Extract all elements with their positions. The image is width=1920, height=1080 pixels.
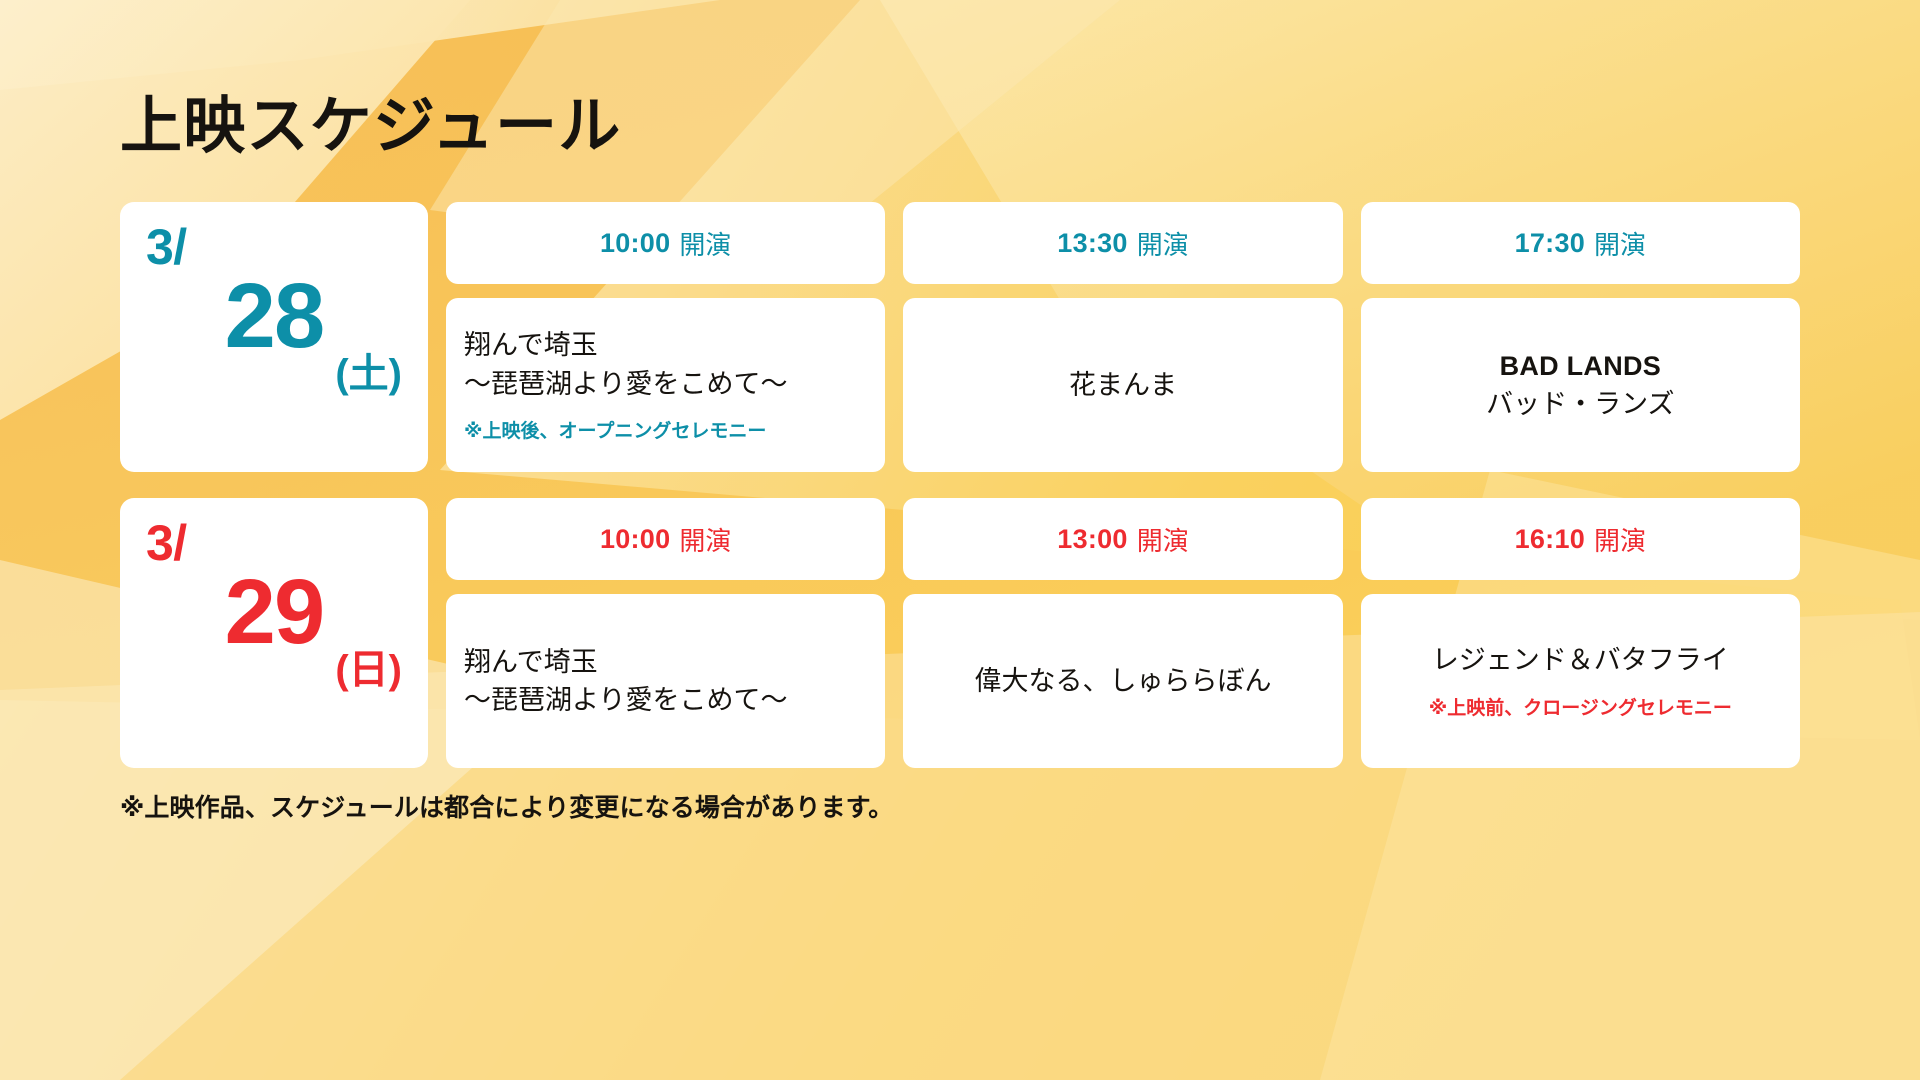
film-card[interactable]: 翔んで埼玉 ～琵琶湖より愛をこめて～※上映後、オープニングセレモニー: [446, 298, 885, 472]
showtime-label: 開演: [679, 225, 731, 262]
film-title: 翔んで埼玉 ～琵琶湖より愛をこめて～: [464, 643, 787, 720]
film-title: BAD LANDSバッド・ランズ: [1486, 347, 1674, 424]
schedule-poster: 上映スケジュール 3/28(土)10:00開演翔んで埼玉 ～琵琶湖より愛をこめて…: [0, 0, 1920, 1080]
film-note: ※上映後、オープニングセレモニー: [464, 421, 766, 444]
showtime-slot: 16:10開演レジェンド＆バタフライ※上映前、クロージングセレモニー: [1361, 498, 1800, 768]
showtime-value: 13:30: [1057, 228, 1127, 259]
date-dayofweek: (土): [146, 354, 402, 394]
showtime-slot: 10:00開演翔んで埼玉 ～琵琶湖より愛をこめて～※上映後、オープニングセレモニ…: [446, 202, 885, 472]
film-note: ※上映前、クロージングセレモニー: [1429, 698, 1732, 721]
showtime-card[interactable]: 10:00開演: [446, 202, 885, 284]
film-title: 花まんま: [1069, 366, 1177, 404]
date-dayofweek: (日): [146, 650, 402, 690]
showtime-label: 開演: [1137, 225, 1189, 262]
film-title: レジェンド＆バタフライ: [1432, 641, 1729, 679]
film-card[interactable]: BAD LANDSバッド・ランズ: [1361, 298, 1800, 472]
showtime-label: 開演: [1594, 521, 1646, 558]
showtime-value: 10:00: [600, 524, 670, 555]
showtime-label: 開演: [1137, 521, 1189, 558]
film-card[interactable]: レジェンド＆バタフライ※上映前、クロージングセレモニー: [1361, 594, 1800, 768]
film-title-jp: バッド・ランズ: [1486, 389, 1674, 419]
poster-content: 上映スケジュール 3/28(土)10:00開演翔んで埼玉 ～琵琶湖より愛をこめて…: [0, 0, 1920, 824]
showtime-slots: 10:00開演翔んで埼玉 ～琵琶湖より愛をこめて～13:00開演偉大なる、しゅら…: [446, 498, 1800, 768]
showtime-value: 16:10: [1515, 524, 1585, 555]
film-title: 翔んで埼玉 ～琵琶湖より愛をこめて～: [464, 326, 787, 403]
showtime-slots: 10:00開演翔んで埼玉 ～琵琶湖より愛をこめて～※上映後、オープニングセレモニ…: [446, 202, 1800, 472]
showtime-card[interactable]: 16:10開演: [1361, 498, 1800, 580]
schedule-row: 3/28(土)10:00開演翔んで埼玉 ～琵琶湖より愛をこめて～※上映後、オープ…: [120, 202, 1800, 472]
date-card: 3/28(土): [120, 202, 428, 472]
showtime-card[interactable]: 13:30開演: [903, 202, 1342, 284]
showtime-slot: 13:30開演花まんま: [903, 202, 1342, 472]
page-title: 上映スケジュール: [120, 96, 1800, 158]
schedule-rows: 3/28(土)10:00開演翔んで埼玉 ～琵琶湖より愛をこめて～※上映後、オープ…: [120, 202, 1800, 768]
showtime-value: 17:30: [1515, 228, 1585, 259]
footnote: ※上映作品、スケジュールは都合により変更になる場合があります。: [120, 788, 1800, 824]
showtime-label: 開演: [679, 521, 731, 558]
film-card[interactable]: 翔んで埼玉 ～琵琶湖より愛をこめて～: [446, 594, 885, 768]
film-card[interactable]: 偉大なる、しゅららぼん: [903, 594, 1342, 768]
showtime-card[interactable]: 13:00開演: [903, 498, 1342, 580]
film-title: 偉大なる、しゅららぼん: [974, 662, 1271, 700]
showtime-card[interactable]: 17:30開演: [1361, 202, 1800, 284]
showtime-card[interactable]: 10:00開演: [446, 498, 885, 580]
showtime-slot: 10:00開演翔んで埼玉 ～琵琶湖より愛をこめて～: [446, 498, 885, 768]
date-card: 3/29(日): [120, 498, 428, 768]
date-day: 28: [146, 274, 402, 359]
schedule-row: 3/29(日)10:00開演翔んで埼玉 ～琵琶湖より愛をこめて～13:00開演偉…: [120, 498, 1800, 768]
showtime-value: 13:00: [1057, 524, 1127, 555]
date-day: 29: [146, 570, 402, 655]
showtime-slot: 17:30開演BAD LANDSバッド・ランズ: [1361, 202, 1800, 472]
showtime-value: 10:00: [600, 228, 670, 259]
showtime-slot: 13:00開演偉大なる、しゅららぼん: [903, 498, 1342, 768]
film-title-en: BAD LANDS: [1500, 351, 1661, 381]
showtime-label: 開演: [1594, 225, 1646, 262]
film-card[interactable]: 花まんま: [903, 298, 1342, 472]
